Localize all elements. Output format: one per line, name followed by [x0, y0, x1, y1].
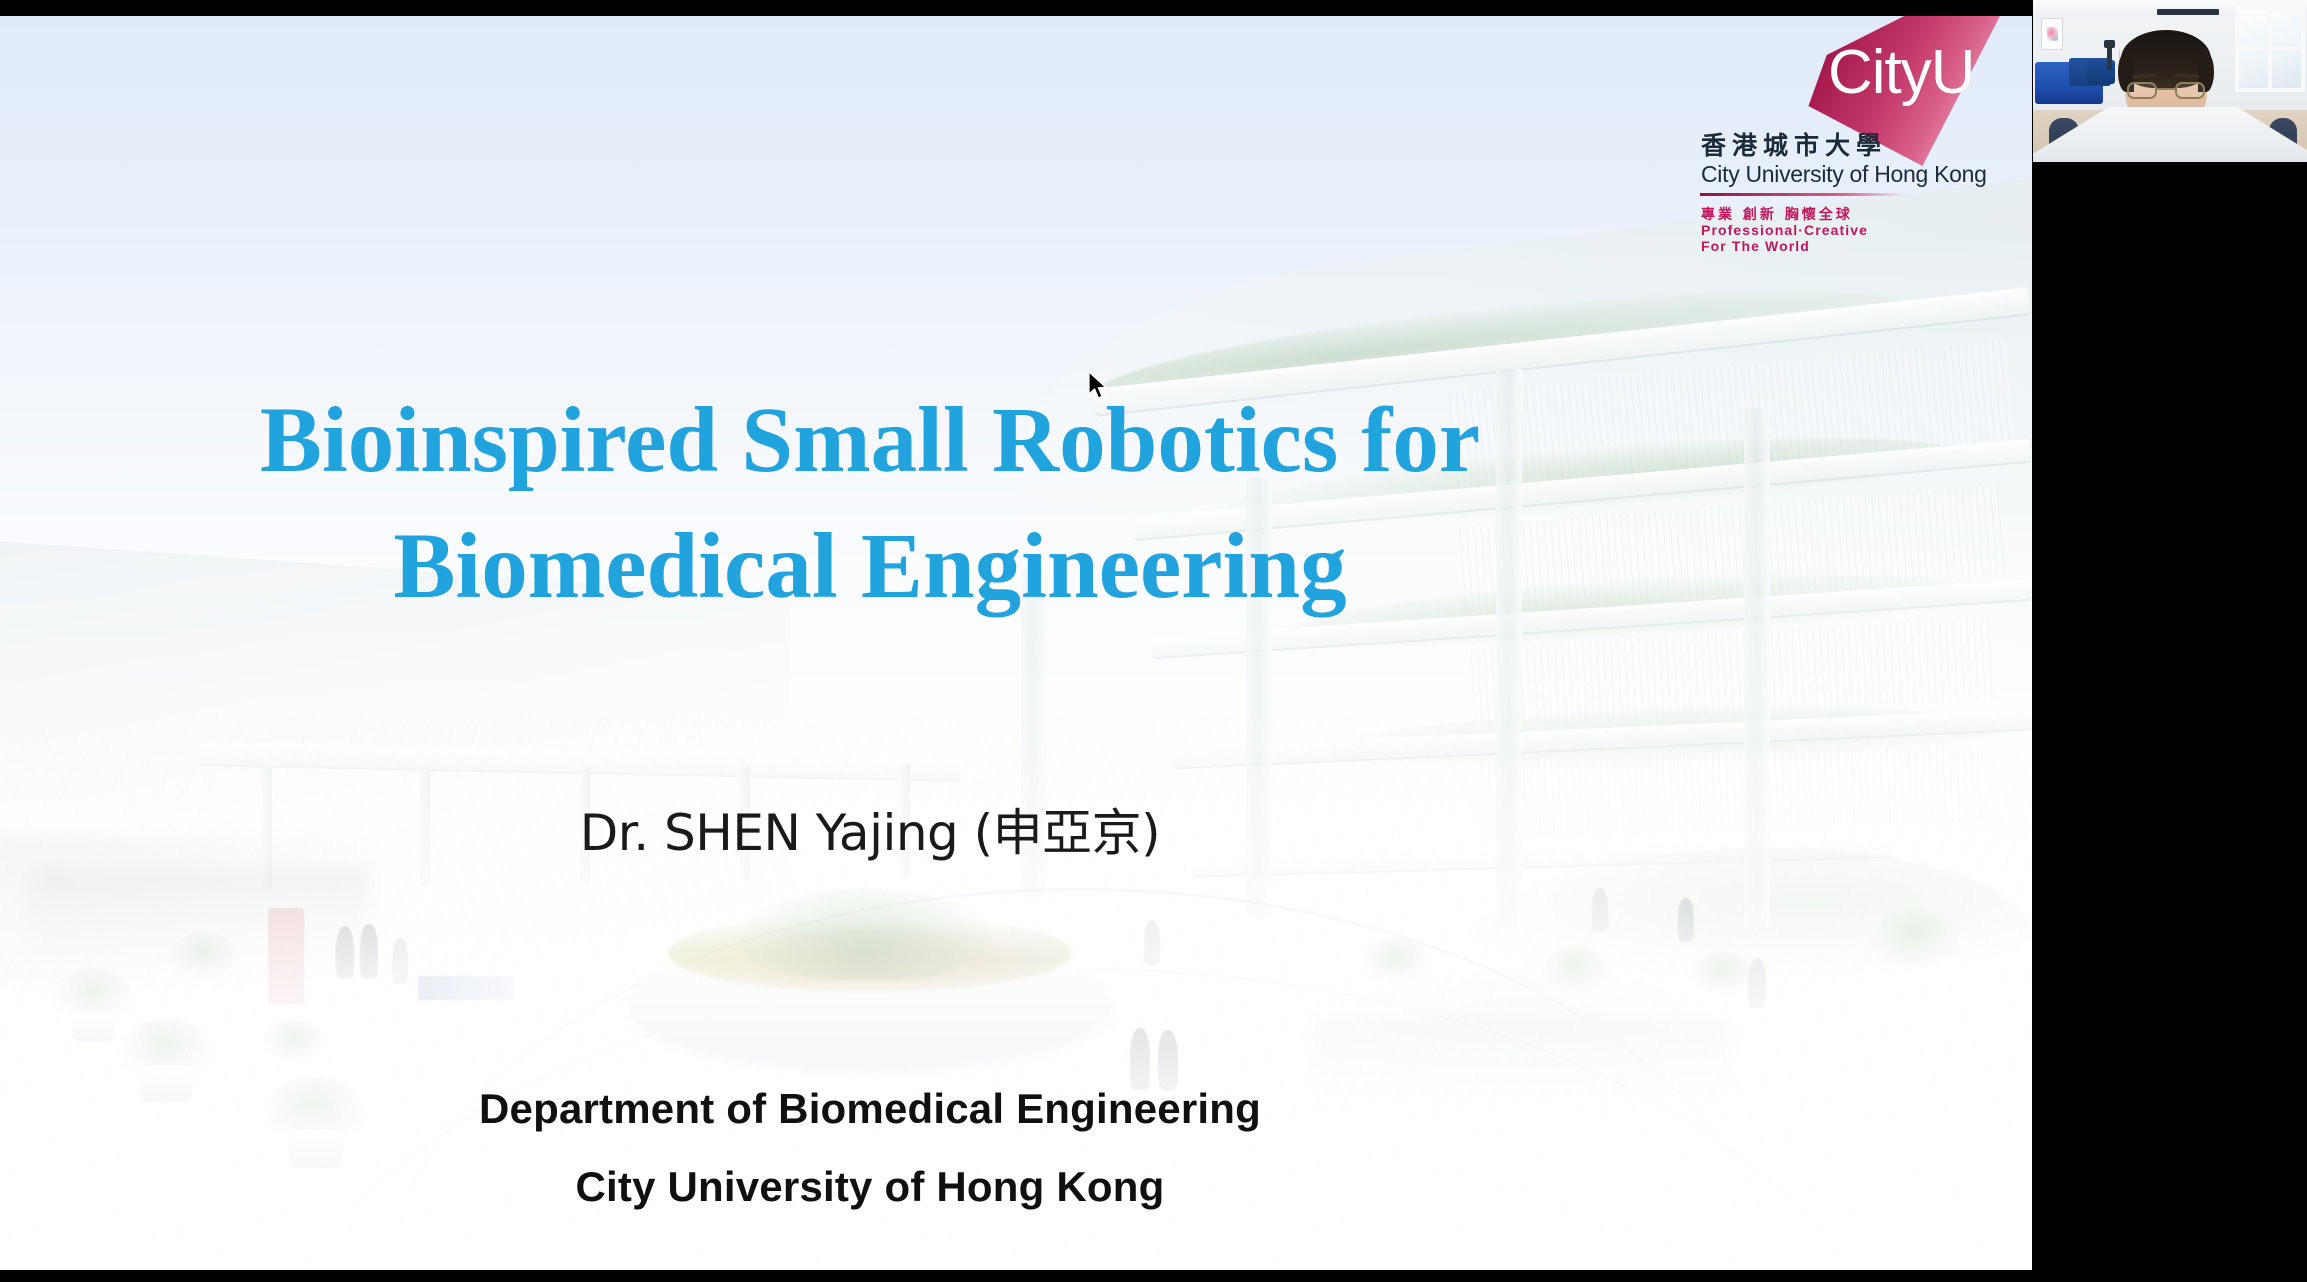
presentation-slide[interactable]: CityU 香港城市大學 City University of Hong Kon…: [0, 8, 2032, 1276]
flower-bed-palms: [740, 888, 990, 980]
person-9: [1748, 958, 1766, 1008]
room-window: [2235, 6, 2305, 92]
person-7: [1592, 888, 1608, 932]
affiliation-block: Department of Biomedical Engineering Cit…: [0, 1070, 1740, 1226]
cityu-tagline-english-line1: Professional·Creative: [1701, 222, 1868, 238]
cityu-logo: CityU 香港城市大學 City University of Hong Kon…: [1700, 16, 2000, 256]
person-3: [392, 938, 408, 984]
webcam-panel[interactable]: [2032, 0, 2307, 1282]
presenter-glasses: [2127, 82, 2205, 100]
presenter-video-feed[interactable]: [2033, 0, 2307, 162]
cityu-tagline-chinese: 專業 創新 胸懷全球: [1701, 204, 1853, 224]
red-pillar: [268, 908, 304, 1004]
presenter-hair: [2121, 30, 2211, 88]
desk-lamp: [2107, 46, 2112, 70]
blue-banner: [418, 976, 514, 1000]
person-6: [1144, 920, 1160, 966]
wall-picture-frame: [2041, 18, 2063, 50]
person-1: [336, 926, 354, 978]
air-vent: [2157, 9, 2219, 15]
presenter-glasses-bridge: [2157, 88, 2175, 90]
slide-title: Bioinspired Small Robotics for Biomedica…: [0, 378, 1740, 630]
affiliation-university: City University of Hong Kong: [0, 1148, 1740, 1226]
person-2: [360, 924, 378, 978]
presenter-name: Dr. SHEN Yajing (申亞京): [0, 793, 1740, 865]
slide-title-line-1: Bioinspired Small Robotics for: [0, 378, 1740, 504]
affiliation-department: Department of Biomedical Engineering: [0, 1070, 1740, 1148]
cityu-name-english: City University of Hong Kong: [1701, 161, 1987, 188]
cityu-wordmark: CityU: [1828, 42, 1975, 104]
slide-title-line-2: Biomedical Engineering: [0, 504, 1740, 630]
empty-participant-area: [2032, 162, 2307, 1282]
letterbox-top: [0, 8, 2032, 16]
cityu-name-chinese: 香港城市大學: [1701, 126, 1887, 162]
cityu-tagline-english-line2: For The World: [1701, 238, 1810, 254]
screen-share-view: CityU 香港城市大學 City University of Hong Kon…: [0, 0, 2307, 1282]
person-8: [1678, 898, 1694, 942]
pot-3: [72, 1012, 114, 1042]
cityu-logo-divider: [1700, 193, 1905, 196]
letterbox-bottom: [0, 1270, 2032, 1276]
